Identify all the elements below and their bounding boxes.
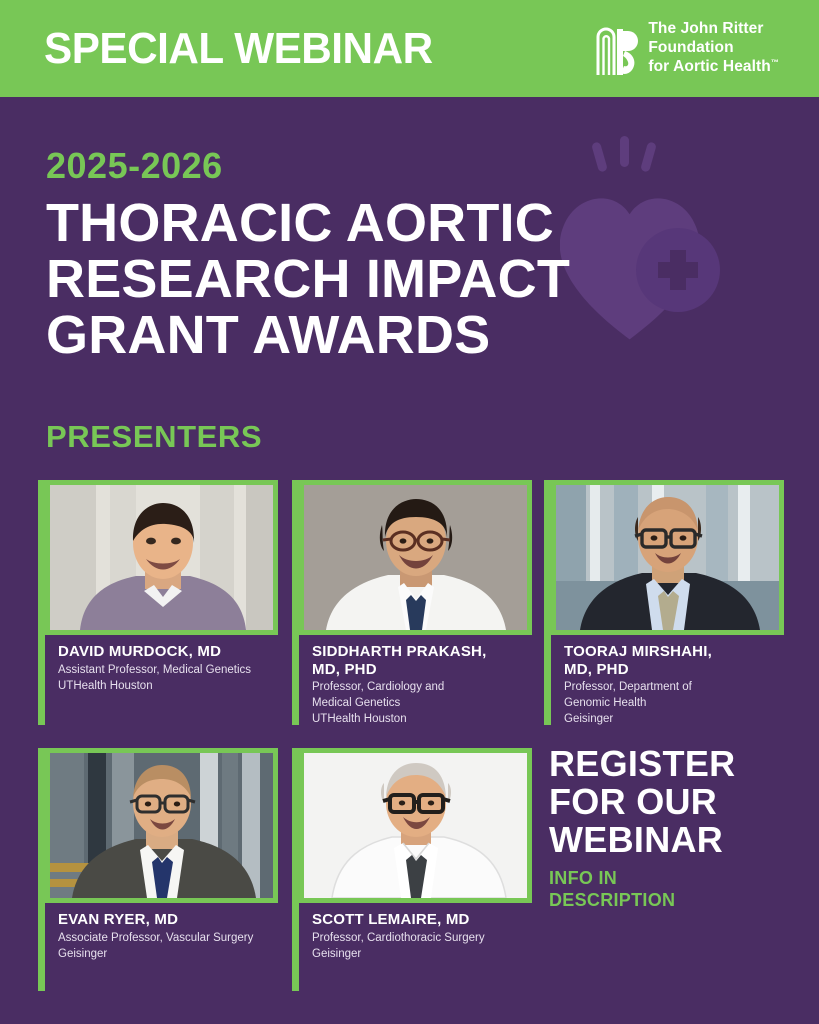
presenter-role-line: Professor, Department of [564,680,782,696]
presenter-info: EVAN RYER, MD Associate Professor, Vascu… [58,911,283,962]
presenter-photo-frame [299,480,532,635]
presenter-card-tooraj-mirshahi: TOORAJ MIRSHAHI, MD, PHD Professor, Depa… [544,480,784,725]
presenter-role-line: Assistant Professor, Medical Genetics [58,663,276,679]
presenter-role-line: Professor, Cardiothoracic Surgery [312,931,537,947]
presenter-photo-frame [45,748,278,903]
card-accent-bar [38,480,45,725]
presenter-role-line: Geisinger [58,947,283,963]
presenter-role-line: Geisinger [564,712,782,728]
portrait-tooraj-mirshahi [556,485,779,630]
presenter-photo-frame [45,480,278,635]
presenter-card-david-murdock: DAVID MURDOCK, MD Assistant Professor, M… [38,480,278,725]
header-bar: SPECIAL WEBINAR The John Ritter Foundati… [0,0,819,97]
logo-trademark: ™ [771,58,779,67]
register-heading-line: WEBINAR [549,821,799,859]
portrait-siddharth-prakash [304,485,527,630]
logo-line-2: Foundation [648,39,733,56]
hero-title-line-1: THORACIC AORTIC [46,195,646,251]
hero-title-line-2: RESEARCH IMPACT [46,251,646,307]
card-accent-bar [38,748,45,991]
presenter-name: SCOTT LEMAIRE, MD [312,911,537,929]
register-subtext: INFO IN DESCRIPTION [549,868,799,910]
presenter-role-line: UTHealth Houston [312,712,530,728]
register-subtext-line: INFO IN [549,868,799,889]
presenter-name: EVAN RYER, MD [58,911,283,929]
foundation-logo: The John Ritter Foundation for Aortic He… [594,20,779,77]
medical-cross-icon [636,228,720,312]
presenter-name: SIDDHARTH PRAKASH, MD, PHD [312,643,530,678]
presenter-info: TOORAJ MIRSHAHI, MD, PHD Professor, Depa… [564,643,782,728]
foundation-logo-text: The John Ritter Foundation for Aortic He… [648,20,779,77]
portrait-scott-lemaire [304,753,527,898]
john-ritter-foundation-monogram-icon [594,21,638,77]
presenter-card-scott-lemaire: SCOTT LEMAIRE, MD Professor, Cardiothora… [292,748,532,993]
logo-line-3: for Aortic Health [648,58,771,75]
presenter-photo-frame [299,748,532,903]
presenter-name-line: SIDDHARTH PRAKASH, [312,643,530,661]
page-title: SPECIAL WEBINAR [44,24,433,74]
register-callout[interactable]: REGISTER FOR OUR WEBINAR INFO IN DESCRIP… [549,745,799,911]
presenters-section-label: PRESENTERS [46,419,262,455]
register-heading-line: REGISTER [549,745,799,783]
portrait-david-murdock [50,485,273,630]
presenter-role-line: Medical Genetics [312,696,530,712]
presenter-name: DAVID MURDOCK, MD [58,643,276,661]
presenter-card-siddharth-prakash: SIDDHARTH PRAKASH, MD, PHD Professor, Ca… [292,480,532,725]
presenter-name: TOORAJ MIRSHAHI, MD, PHD [564,643,782,678]
register-subtext-line: DESCRIPTION [549,890,799,911]
logo-line-1: The John Ritter [648,20,763,37]
presenter-role-line: Geisinger [312,947,537,963]
hero-title: THORACIC AORTIC RESEARCH IMPACT GRANT AW… [46,195,646,363]
presenter-name-line: TOORAJ MIRSHAHI, [564,643,782,661]
presenter-info: SCOTT LEMAIRE, MD Professor, Cardiothora… [312,911,537,962]
card-accent-bar [292,748,299,991]
portrait-evan-ryer [50,753,273,898]
register-heading-line: FOR OUR [549,783,799,821]
register-heading: REGISTER FOR OUR WEBINAR [549,745,799,859]
presenter-name-line: MD, PHD [312,661,530,679]
presenter-name-line: MD, PHD [564,661,782,679]
hero-headline: 2025-2026 THORACIC AORTIC RESEARCH IMPAC… [46,148,646,363]
presenter-card-evan-ryer: EVAN RYER, MD Associate Professor, Vascu… [38,748,278,993]
presenter-info: SIDDHARTH PRAKASH, MD, PHD Professor, Ca… [312,643,530,728]
presenter-role-line: Genomic Health [564,696,782,712]
presenter-photo-frame [551,480,784,635]
presenter-role-line: Associate Professor, Vascular Surgery [58,931,283,947]
hero-year: 2025-2026 [46,148,646,184]
presenter-info: DAVID MURDOCK, MD Assistant Professor, M… [58,643,276,694]
presenter-role-line: UTHealth Houston [58,679,276,695]
hero-title-line-3: GRANT AWARDS [46,307,646,363]
card-accent-bar [544,480,551,725]
card-accent-bar [292,480,299,725]
presenter-role-line: Professor, Cardiology and [312,680,530,696]
